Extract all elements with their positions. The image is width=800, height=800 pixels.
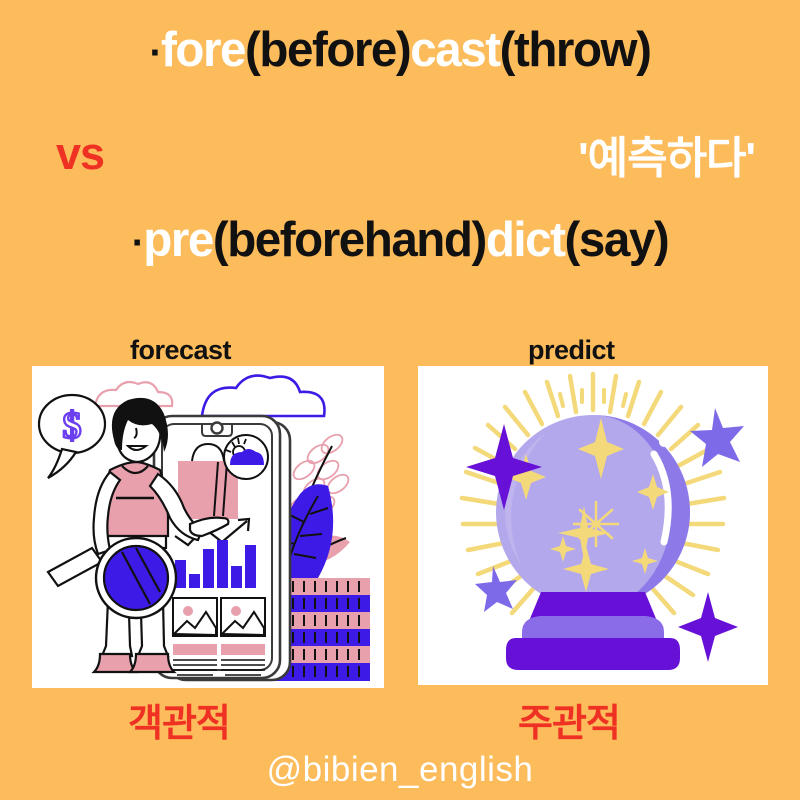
predict-illustration — [418, 366, 768, 685]
root-dict: dict — [486, 213, 565, 267]
illustration-panel-forecast: $ — [32, 366, 384, 688]
bottom-caption-objective: 객관적 — [128, 692, 230, 747]
bottom-caption-subjective: 주관적 — [518, 692, 620, 747]
text-block-right — [221, 644, 265, 675]
crystal-ball-base-collar — [522, 616, 664, 638]
magnifier-handle — [48, 548, 102, 586]
crystal-ball-base-foot — [506, 638, 680, 670]
image-card-right — [221, 598, 265, 636]
phone-camera-icon — [212, 423, 223, 434]
gloss-beforehand: (beforehand) — [213, 213, 486, 267]
caption-predict: predict — [528, 335, 615, 366]
star-purple-bottomright — [678, 592, 738, 662]
watermark-handle: @bibien_english — [0, 750, 800, 790]
dollar-speech-bubble-icon: $ — [39, 395, 105, 478]
crystal-ball-shine-dot — [659, 437, 669, 447]
gloss-before: (before) — [245, 23, 410, 77]
forecast-illustration: $ — [32, 366, 384, 688]
svg-text:$: $ — [63, 405, 82, 447]
caption-forecast: forecast — [130, 335, 231, 366]
bullet-marker-forecast: · — [150, 31, 161, 75]
star-violet-topright — [690, 408, 744, 467]
woman-shoe-left — [94, 654, 136, 672]
illustration-panel-predict — [418, 366, 768, 685]
image-card-left — [173, 598, 217, 636]
root-cast: cast — [410, 23, 499, 77]
woman-shoe-right — [130, 654, 174, 672]
etymology-line-predict: ·pre(beforehand)dict(say) — [12, 216, 788, 265]
korean-meaning-label: '예측하다' — [578, 122, 755, 186]
etymology-line-forecast: ·fore(before)cast(throw) — [12, 26, 788, 75]
root-fore: fore — [161, 23, 245, 77]
weather-icon — [224, 435, 268, 479]
text-block-left — [173, 644, 217, 675]
magnifying-glass-icon — [48, 538, 176, 618]
root-pre: pre — [143, 213, 213, 267]
bullet-marker-predict: · — [132, 221, 143, 265]
vs-label: vs — [56, 128, 104, 180]
poster-canvas: ·fore(before)cast(throw) vs '예측하다' ·pre(… — [0, 0, 800, 800]
gloss-say: (say) — [565, 213, 669, 267]
gloss-throw: (throw) — [500, 23, 651, 77]
cloud-blue-icon — [202, 376, 325, 416]
middle-row: vs '예측하다' — [0, 122, 800, 184]
